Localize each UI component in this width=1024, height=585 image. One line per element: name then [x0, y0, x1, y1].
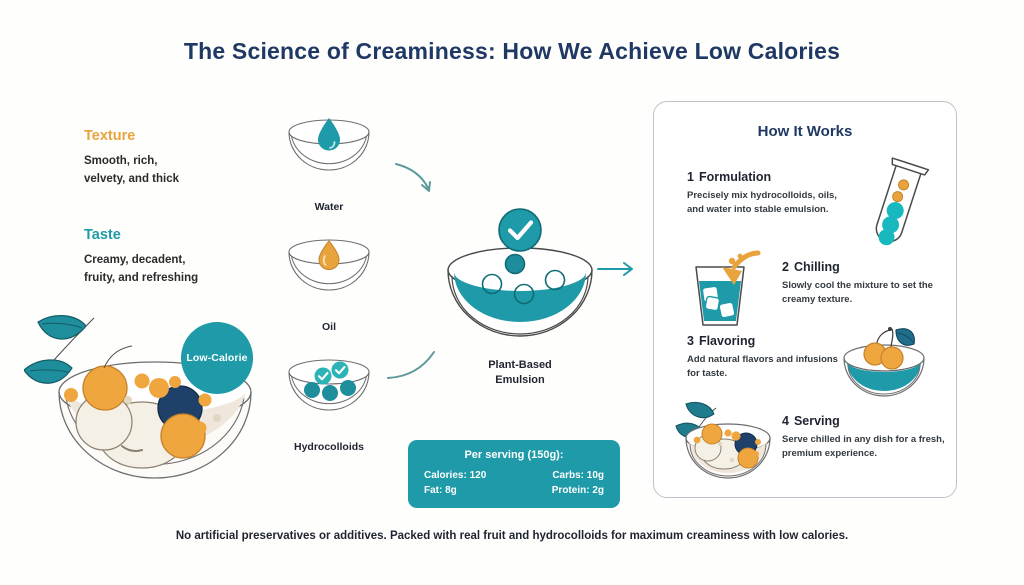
- test-tube-icon: [859, 152, 937, 252]
- nutrition-calories: Calories: 120: [424, 470, 514, 481]
- dessert-bowl-icon: [672, 398, 776, 486]
- step-serving-description: Serve chilled in any dish for a fresh, p…: [782, 433, 947, 462]
- step-flavoring-number: 3: [687, 334, 694, 348]
- iced-glass-icon: [676, 247, 764, 335]
- how-it-works-title: How It Works: [654, 123, 956, 140]
- dessert-bowl-hero-icon: [24, 300, 286, 490]
- step-chilling-heading: 2Chilling: [782, 260, 947, 274]
- step-flavoring-description: Add natural flavors and infusions for ta…: [687, 353, 839, 382]
- bowl-hydrocolloid-particles-icon: [268, 352, 390, 430]
- step-flavoring-heading: 3Flavoring: [687, 334, 839, 348]
- step-chilling-description: Slowly cool the mixture to set the cream…: [782, 279, 947, 308]
- step-chilling-number: 2: [782, 260, 789, 274]
- attribute-taste-heading: Taste: [84, 227, 274, 243]
- infographic-canvas: The Science of Creaminess: How We Achiev…: [0, 0, 1024, 585]
- nutrition-card: Per serving (150g): Calories: 120 Carbs:…: [408, 440, 620, 508]
- page-title: The Science of Creaminess: How We Achiev…: [0, 38, 1024, 65]
- ingredient-water: Water: [268, 112, 390, 213]
- step-flavoring-name: Flavoring: [699, 334, 755, 348]
- attribute-texture-heading: Texture: [84, 128, 274, 144]
- bowl-cherries-icon: [834, 320, 934, 406]
- bowl-emulsion-check-icon: [432, 202, 608, 347]
- step-formulation-number: 1: [687, 170, 694, 184]
- ingredient-water-label: Water: [268, 201, 390, 213]
- step-formulation-name: Formulation: [699, 170, 771, 184]
- nutrition-fat: Fat: 8g: [424, 485, 514, 496]
- step-formulation-heading: 1Formulation: [687, 170, 837, 184]
- attribute-texture-body: Smooth, rich, velvety, and thick: [84, 153, 274, 189]
- nutrition-grid: Calories: 120 Carbs: 10g Fat: 8g Protein…: [424, 470, 604, 496]
- bowl-water-droplet-icon: [268, 112, 390, 190]
- step-formulation-description: Precisely mix hydrocolloids, oils, and w…: [687, 189, 837, 218]
- curved-arrow-down-right-icon: [392, 160, 440, 198]
- step-serving: 4Serving Serve chilled in any dish for a…: [782, 414, 947, 462]
- how-it-works-panel: How It Works 1Formulation Precisely mix …: [653, 101, 957, 498]
- ingredient-oil-label: Oil: [268, 321, 390, 333]
- ingredient-hydrocolloids: Hydrocolloids: [268, 352, 390, 453]
- step-flavoring: 3Flavoring Add natural flavors and infus…: [687, 334, 839, 382]
- step-serving-number: 4: [782, 414, 789, 428]
- plant-based-emulsion: Plant-Based Emulsion: [432, 202, 608, 388]
- low-calorie-badge: Low-Calorie: [181, 322, 253, 394]
- step-serving-name: Serving: [794, 414, 840, 428]
- bowl-oil-droplet-icon: [268, 232, 390, 310]
- step-chilling: 2Chilling Slowly cool the mixture to set…: [782, 260, 947, 308]
- nutrition-title: Per serving (150g):: [424, 449, 604, 461]
- step-formulation: 1Formulation Precisely mix hydrocolloids…: [687, 170, 837, 218]
- ingredient-oil: Oil: [268, 232, 390, 333]
- ingredient-hydrocolloids-label: Hydrocolloids: [268, 441, 390, 453]
- footer-note: No artificial preservatives or additives…: [0, 530, 1024, 542]
- nutrition-carbs: Carbs: 10g: [514, 470, 604, 481]
- attribute-taste: Taste Creamy, decadent, fruity, and refr…: [84, 227, 274, 288]
- emulsion-label: Plant-Based Emulsion: [432, 358, 608, 388]
- step-chilling-name: Chilling: [794, 260, 840, 274]
- attribute-taste-body: Creamy, decadent, fruity, and refreshing: [84, 252, 274, 288]
- attribute-texture: Texture Smooth, rich, velvety, and thick: [84, 128, 274, 189]
- step-serving-heading: 4Serving: [782, 414, 947, 428]
- nutrition-protein: Protein: 2g: [514, 485, 604, 496]
